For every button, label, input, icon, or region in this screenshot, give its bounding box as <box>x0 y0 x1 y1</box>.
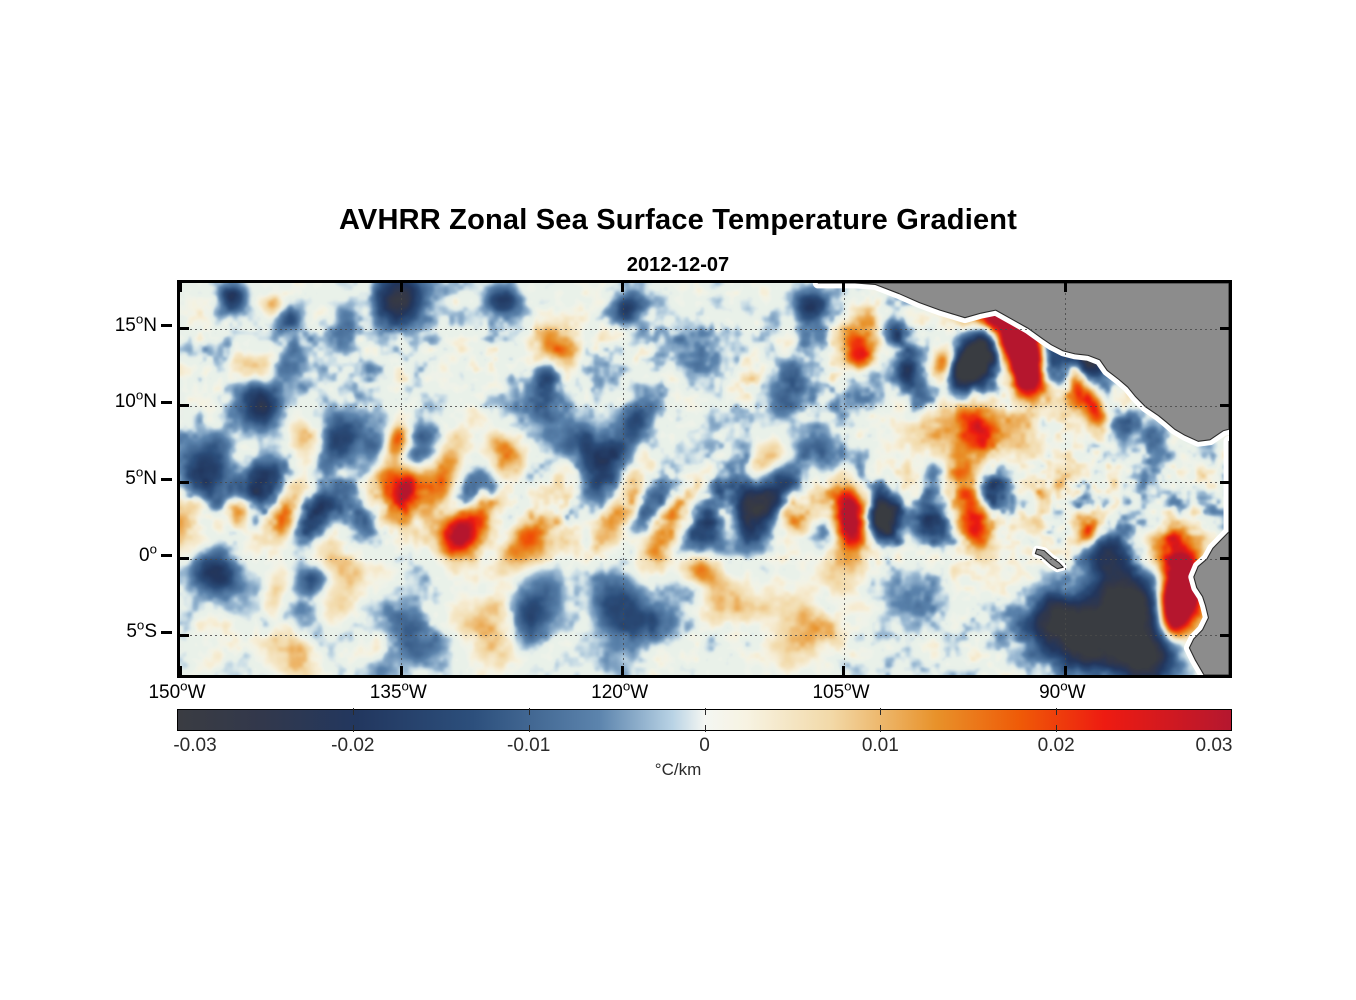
colorbar-tick-label: 0.03 <box>1196 735 1233 757</box>
colorbar-tick <box>880 708 881 715</box>
page-title: AVHRR Zonal Sea Surface Temperature Grad… <box>0 204 1356 237</box>
x-tick-inner <box>400 666 403 675</box>
x-tick-inner <box>1064 666 1067 675</box>
x-tick-inner <box>1064 283 1067 292</box>
colorbar-tick <box>1056 708 1057 715</box>
colorbar[interactable] <box>177 709 1232 731</box>
colorbar-tick-label: -0.03 <box>173 735 216 757</box>
y-tick-mark <box>161 554 172 557</box>
y-axis-label: 10oN <box>115 391 157 413</box>
x-tick-inner <box>400 283 403 292</box>
y-tick-mark <box>161 478 172 481</box>
colorbar-tick-label: 0.01 <box>862 735 899 757</box>
colorbar-unit-label: °C/km <box>0 760 1356 780</box>
map-axes[interactable] <box>177 280 1232 678</box>
colorbar-tick <box>880 725 881 732</box>
y-axis-label: 0o <box>139 545 157 567</box>
y-tick-inner <box>1220 481 1229 484</box>
colorbar-tick <box>529 725 530 732</box>
x-axis-label: 105oW <box>812 682 869 704</box>
x-tick-inner <box>179 283 182 292</box>
y-tick-mark <box>161 401 172 404</box>
y-tick-inner <box>1220 634 1229 637</box>
x-tick-inner <box>621 283 624 292</box>
x-axis-label: 135oW <box>370 682 427 704</box>
colorbar-tick <box>705 725 706 732</box>
y-tick-inner <box>180 327 189 330</box>
y-tick-inner <box>180 481 189 484</box>
x-tick-inner <box>842 666 845 675</box>
y-axis: 15oN10oN5oN0o5oS <box>0 280 172 678</box>
y-tick-inner <box>1220 404 1229 407</box>
y-tick-inner <box>180 557 189 560</box>
colorbar-tick <box>353 708 354 715</box>
colorbar-tick-label: -0.01 <box>507 735 550 757</box>
figure-canvas: AVHRR Zonal Sea Surface Temperature Grad… <box>0 0 1356 1000</box>
x-axis-label: 120oW <box>591 682 648 704</box>
colorbar-tick-label: 0 <box>699 735 710 757</box>
y-axis-label: 5oS <box>126 621 157 643</box>
y-tick-mark <box>161 324 172 327</box>
colorbar-tick <box>353 725 354 732</box>
y-axis-label: 15oN <box>115 315 157 337</box>
colorbar-tick-label: -0.02 <box>331 735 374 757</box>
x-axis-label: 150oW <box>148 682 205 704</box>
land-mask-overlay <box>180 283 1229 675</box>
colorbar-tick-labels: -0.03-0.02-0.0100.010.020.03 <box>177 735 1232 761</box>
y-tick-inner <box>180 404 189 407</box>
x-tick-inner <box>621 666 624 675</box>
y-tick-mark <box>161 631 172 634</box>
x-axis-label: 90oW <box>1039 682 1085 704</box>
colorbar-tick-label: 0.02 <box>1038 735 1075 757</box>
colorbar-tick <box>705 708 706 715</box>
x-tick-inner <box>842 283 845 292</box>
y-tick-inner <box>1220 327 1229 330</box>
figure-date-subtitle: 2012-12-07 <box>0 254 1356 277</box>
colorbar-tick <box>529 708 530 715</box>
colorbar-tick <box>1056 725 1057 732</box>
y-tick-inner <box>180 634 189 637</box>
y-tick-inner <box>1220 557 1229 560</box>
y-axis-label: 5oN <box>125 468 157 490</box>
x-tick-inner <box>179 666 182 675</box>
